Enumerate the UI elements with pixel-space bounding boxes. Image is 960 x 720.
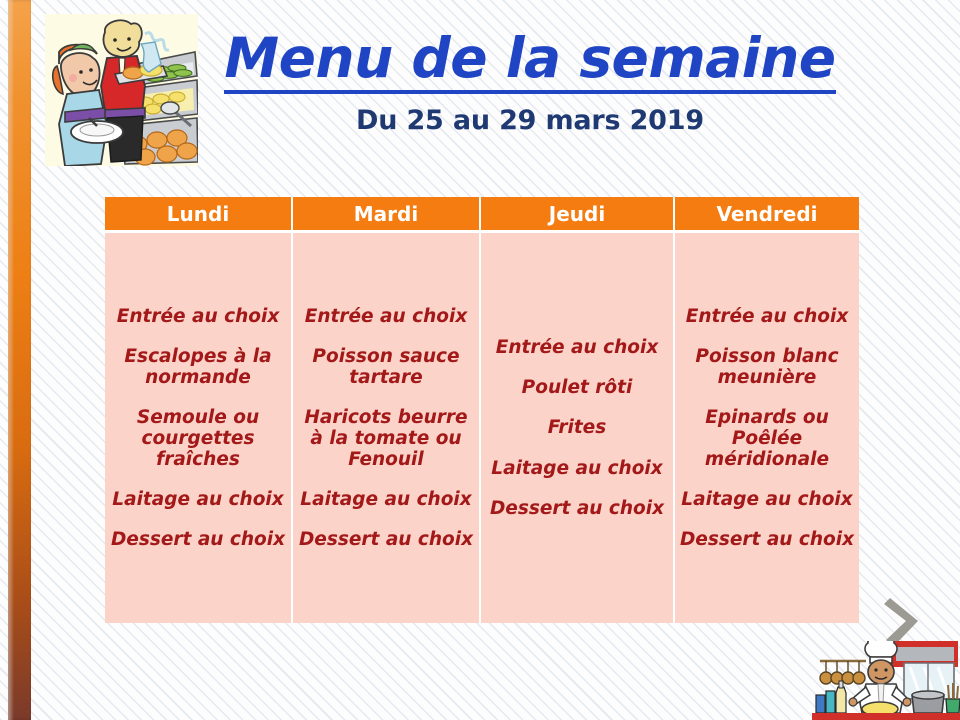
table-row: Entrée au choix Escalopes à la normande …	[105, 232, 859, 624]
school-cafeteria-illustration	[45, 14, 198, 166]
menu-item: Poisson blanc meunière	[679, 346, 855, 388]
menu-item: Laitage au choix	[297, 489, 475, 510]
menu-item: Laitage au choix	[109, 489, 287, 510]
column-header-mardi: Mardi	[292, 197, 480, 232]
title-block: Menu de la semaine Du 25 au 29 mars 2019	[210, 30, 850, 136]
menu-item: Entrée au choix	[109, 306, 287, 327]
page-subtitle: Du 25 au 29 mars 2019	[210, 105, 850, 136]
chef-cooking-illustration	[812, 641, 960, 720]
menu-cell-lundi: Entrée au choix Escalopes à la normande …	[105, 232, 292, 624]
menu-item: Escalopes à la normande	[109, 346, 287, 388]
menu-item: Semoule ou courgettes fraîches	[109, 407, 287, 470]
column-header-vendredi: Vendredi	[674, 197, 859, 232]
menu-item: Laitage au choix	[485, 458, 669, 479]
menu-item: Poisson sauce tartare	[297, 346, 475, 388]
menu-item: Frites	[485, 417, 669, 438]
menu-item: Epinards ou Poêlée méridionale	[679, 407, 855, 470]
weekly-menu-table: Lundi Mardi Jeudi Vendredi Entrée au cho…	[105, 197, 859, 623]
menu-item: Entrée au choix	[679, 306, 855, 327]
menu-item: Entrée au choix	[485, 337, 669, 358]
column-header-lundi: Lundi	[105, 197, 292, 232]
menu-item: Laitage au choix	[679, 489, 855, 510]
menu-item: Dessert au choix	[297, 529, 475, 550]
menu-item: Dessert au choix	[679, 529, 855, 550]
table-header-row: Lundi Mardi Jeudi Vendredi	[105, 197, 859, 232]
menu-item: Entrée au choix	[297, 306, 475, 327]
menu-item: Dessert au choix	[485, 498, 669, 519]
menu-item: Dessert au choix	[109, 529, 287, 550]
page-title: Menu de la semaine	[224, 30, 835, 94]
orange-gradient-side-bar	[8, 0, 31, 720]
menu-item: Haricots beurre à la tomate ou Fenouil	[297, 407, 475, 470]
menu-cell-vendredi: Entrée au choix Poisson blanc meunière E…	[674, 232, 859, 624]
menu-cell-mardi: Entrée au choix Poisson sauce tartare Ha…	[292, 232, 480, 624]
menu-item: Poulet rôti	[485, 377, 669, 398]
column-header-jeudi: Jeudi	[480, 197, 674, 232]
menu-cell-jeudi: Entrée au choix Poulet rôti Frites Laita…	[480, 232, 674, 624]
menu-slide: Menu de la semaine Du 25 au 29 mars 2019…	[0, 0, 960, 720]
